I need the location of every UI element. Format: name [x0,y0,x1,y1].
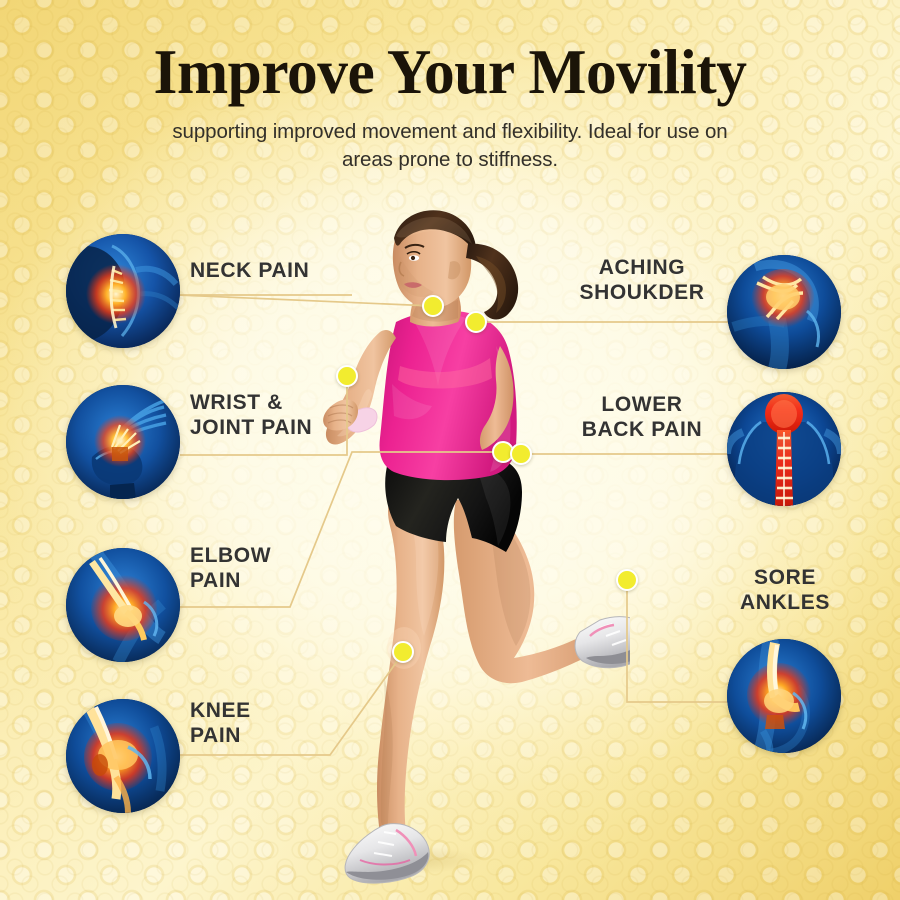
callout-label-neck-pain: NECK PAIN [190,258,309,283]
callout-label-elbow-pain: ELBOW PAIN [190,543,271,594]
callout-label-wrist-joint-pain: WRIST & JOINT PAIN [190,390,312,441]
cervical-spine-xray-icon [66,234,180,348]
callout-label-aching-shoulder: ACHING SHOUKDER [552,255,732,306]
shoe-front [345,824,429,883]
marker-knee-pain[interactable] [392,641,414,663]
callout-label-knee-pain: KNEE PAIN [190,698,251,749]
callout-label-sore-ankles: SORE ANKLES [720,565,850,616]
shoulder-joint-xray-icon [727,255,841,369]
knee-joint-xray-icon [66,699,180,813]
ankle-joint-xray-icon [727,639,841,753]
marker-neck-pain[interactable] [422,295,444,317]
callout-label-lower-back-pain: LOWER BACK PAIN [552,392,732,443]
elbow-joint-xray-icon [66,548,180,662]
spine-xray-icon [727,392,841,506]
marker-wrist-joint-pain[interactable] [336,365,358,387]
marker-lower-back-pain[interactable] [510,443,532,465]
shoe-back [575,617,630,668]
page-title: Improve Your Movility [18,40,882,104]
infographic-poster: Improve Your Movility supporting improve… [0,0,900,900]
marker-sore-ankles[interactable] [616,569,638,591]
header: Improve Your Movility supporting improve… [0,40,900,175]
wrist-hand-xray-icon [66,385,180,499]
marker-aching-shoulder[interactable] [465,311,487,333]
page-subtitle: supporting improved movement and flexibi… [150,118,750,175]
